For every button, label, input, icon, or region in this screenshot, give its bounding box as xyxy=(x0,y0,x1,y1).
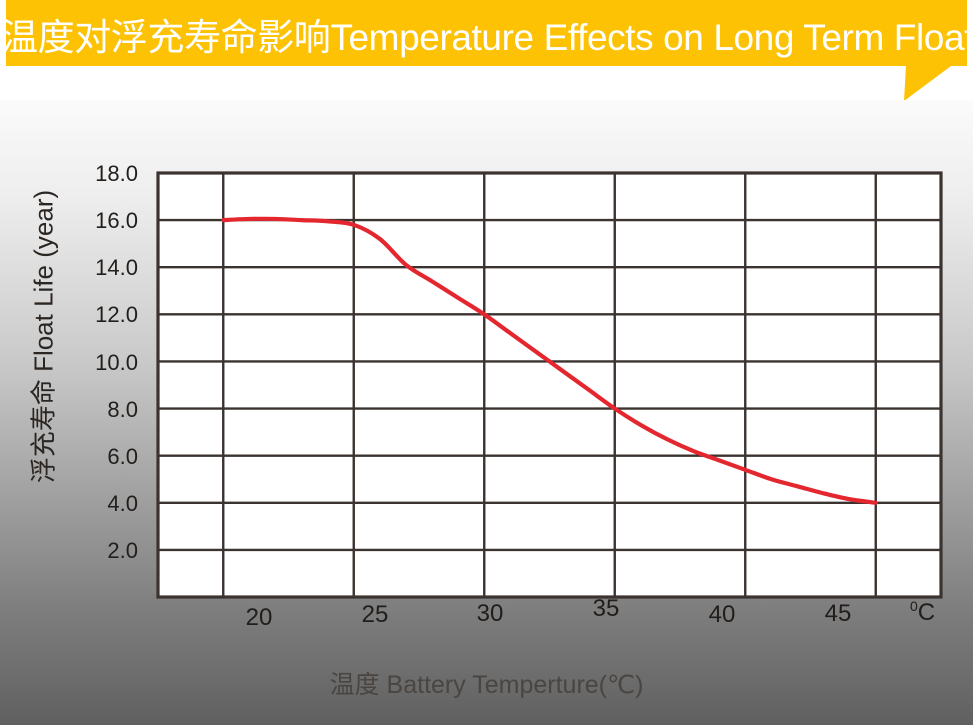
plot-area xyxy=(0,100,973,725)
title-banner: 温度对浮充寿命影响Temperature Effects on Long Ter… xyxy=(0,0,973,100)
plot-background xyxy=(158,173,941,597)
chart-page: 温度对浮充寿命影响Temperature Effects on Long Ter… xyxy=(0,0,973,725)
chart-body: 浮充寿命 Float Life (year) 温度 Battery Temper… xyxy=(0,100,973,725)
banner-title-text: 温度对浮充寿命影响Temperature Effects on Long Ter… xyxy=(0,8,973,68)
